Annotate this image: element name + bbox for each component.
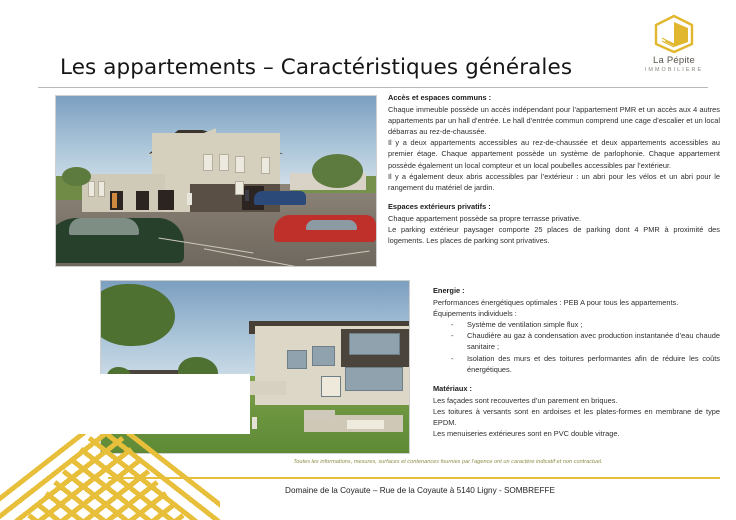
footer-divider: [108, 477, 720, 479]
gold-nugget-icon: [626, 14, 722, 54]
list-item: - Chaudière au gaz à condensation avec p…: [433, 330, 720, 352]
list-item-label: Chaudière au gaz à condensation avec pro…: [467, 331, 720, 351]
photo-garden-furniture: [304, 410, 335, 419]
photo-window: [261, 157, 271, 174]
equipment-bullet-list: - Système de ventilation simple flux ; -…: [433, 319, 720, 374]
title-divider: [38, 87, 708, 88]
list-item: - Isolation des murs et des toitures per…: [433, 353, 720, 375]
bullet-dash-icon: -: [451, 353, 453, 364]
photo-person: [187, 193, 191, 205]
bullet-dash-icon: -: [451, 319, 453, 330]
photo-window: [235, 156, 245, 173]
general-features-text: Accès et espaces communs : Chaque immeub…: [388, 92, 720, 254]
section-heading: Espaces extérieurs privatifs :: [388, 201, 720, 212]
photo-window: [312, 346, 336, 365]
photo-tree: [312, 154, 363, 188]
photo-person: [112, 193, 117, 208]
section-paragraph: Performances énergétiques optimales : PE…: [433, 297, 720, 308]
section-paragraph: Chaque immeuble possède un accès indépen…: [388, 104, 720, 137]
section-paragraph: Le parking extérieur paysager comporte 2…: [388, 224, 720, 246]
photo-green-car-window: [69, 218, 139, 235]
section-heading: Energie :: [433, 285, 720, 296]
brand-logo: La Pépite IMMOBILIERE: [626, 14, 722, 76]
section-paragraph: Il y a deux appartements accessibles au …: [388, 137, 720, 170]
photo-door: [321, 376, 341, 397]
photo-garden-furniture: [347, 420, 384, 429]
logo-subtitle: IMMOBILIERE: [626, 67, 722, 73]
bullet-dash-icon: -: [451, 330, 453, 341]
section-heading: Accès et espaces communs :: [388, 92, 720, 103]
list-item-label: Isolation des murs et des toitures perfo…: [467, 354, 720, 374]
photo-person: [245, 190, 249, 202]
photo-window: [98, 181, 105, 197]
photo-blue-car: [254, 191, 305, 205]
photo-person: [252, 417, 257, 429]
photo-window: [203, 154, 213, 171]
page-title: Les appartements – Caractéristiques géné…: [60, 55, 572, 80]
photo-window: [345, 367, 402, 391]
section-heading: Matériaux :: [433, 383, 720, 394]
presentation-slide: La Pépite IMMOBILIERE Les appartements –…: [0, 0, 736, 520]
section-paragraph: Les menuiseries extérieures sont en PVC …: [433, 428, 720, 439]
photo-window: [349, 333, 400, 356]
section-paragraph: Les façades sont recouvertes d’un pareme…: [433, 395, 720, 406]
section-energie: Energie : Performances énergétiques opti…: [433, 285, 720, 375]
energy-materials-text: Energie : Performances énergétiques opti…: [433, 285, 720, 439]
photo-window: [235, 181, 244, 195]
disclaimer-text: Toutes les informations, mesures, surfac…: [180, 459, 716, 465]
logo-name: La Pépite: [626, 55, 722, 66]
section-paragraph: Chaque appartement possède sa propre ter…: [388, 213, 720, 224]
section-paragraph: Il y a également deux abris accessibles …: [388, 171, 720, 193]
footer-address: Domaine de la Coyaute – Rue de la Coyaut…: [120, 486, 720, 495]
photo-door: [158, 190, 174, 210]
photo-window: [287, 350, 307, 369]
section-paragraph: Les toitures à versants sont en ardoises…: [433, 406, 720, 428]
list-item-label: Système de ventilation simple flux ;: [467, 320, 582, 329]
list-item: - Système de ventilation simple flux ;: [433, 319, 720, 330]
photo-door: [136, 191, 149, 210]
section-materiaux: Matériaux : Les façades sont recouvertes…: [433, 383, 720, 439]
section-espaces-exterieurs: Espaces extérieurs privatifs : Chaque ap…: [388, 201, 720, 246]
chevron-top-mask: [0, 374, 250, 434]
photo-red-car-window: [306, 220, 357, 230]
photo-window: [88, 181, 95, 197]
exterior-parking-photo: [55, 95, 377, 267]
section-acces: Accès et espaces communs : Chaque immeub…: [388, 92, 720, 193]
photo-window: [219, 154, 229, 171]
section-paragraph: Équipements individuels :: [433, 308, 720, 319]
